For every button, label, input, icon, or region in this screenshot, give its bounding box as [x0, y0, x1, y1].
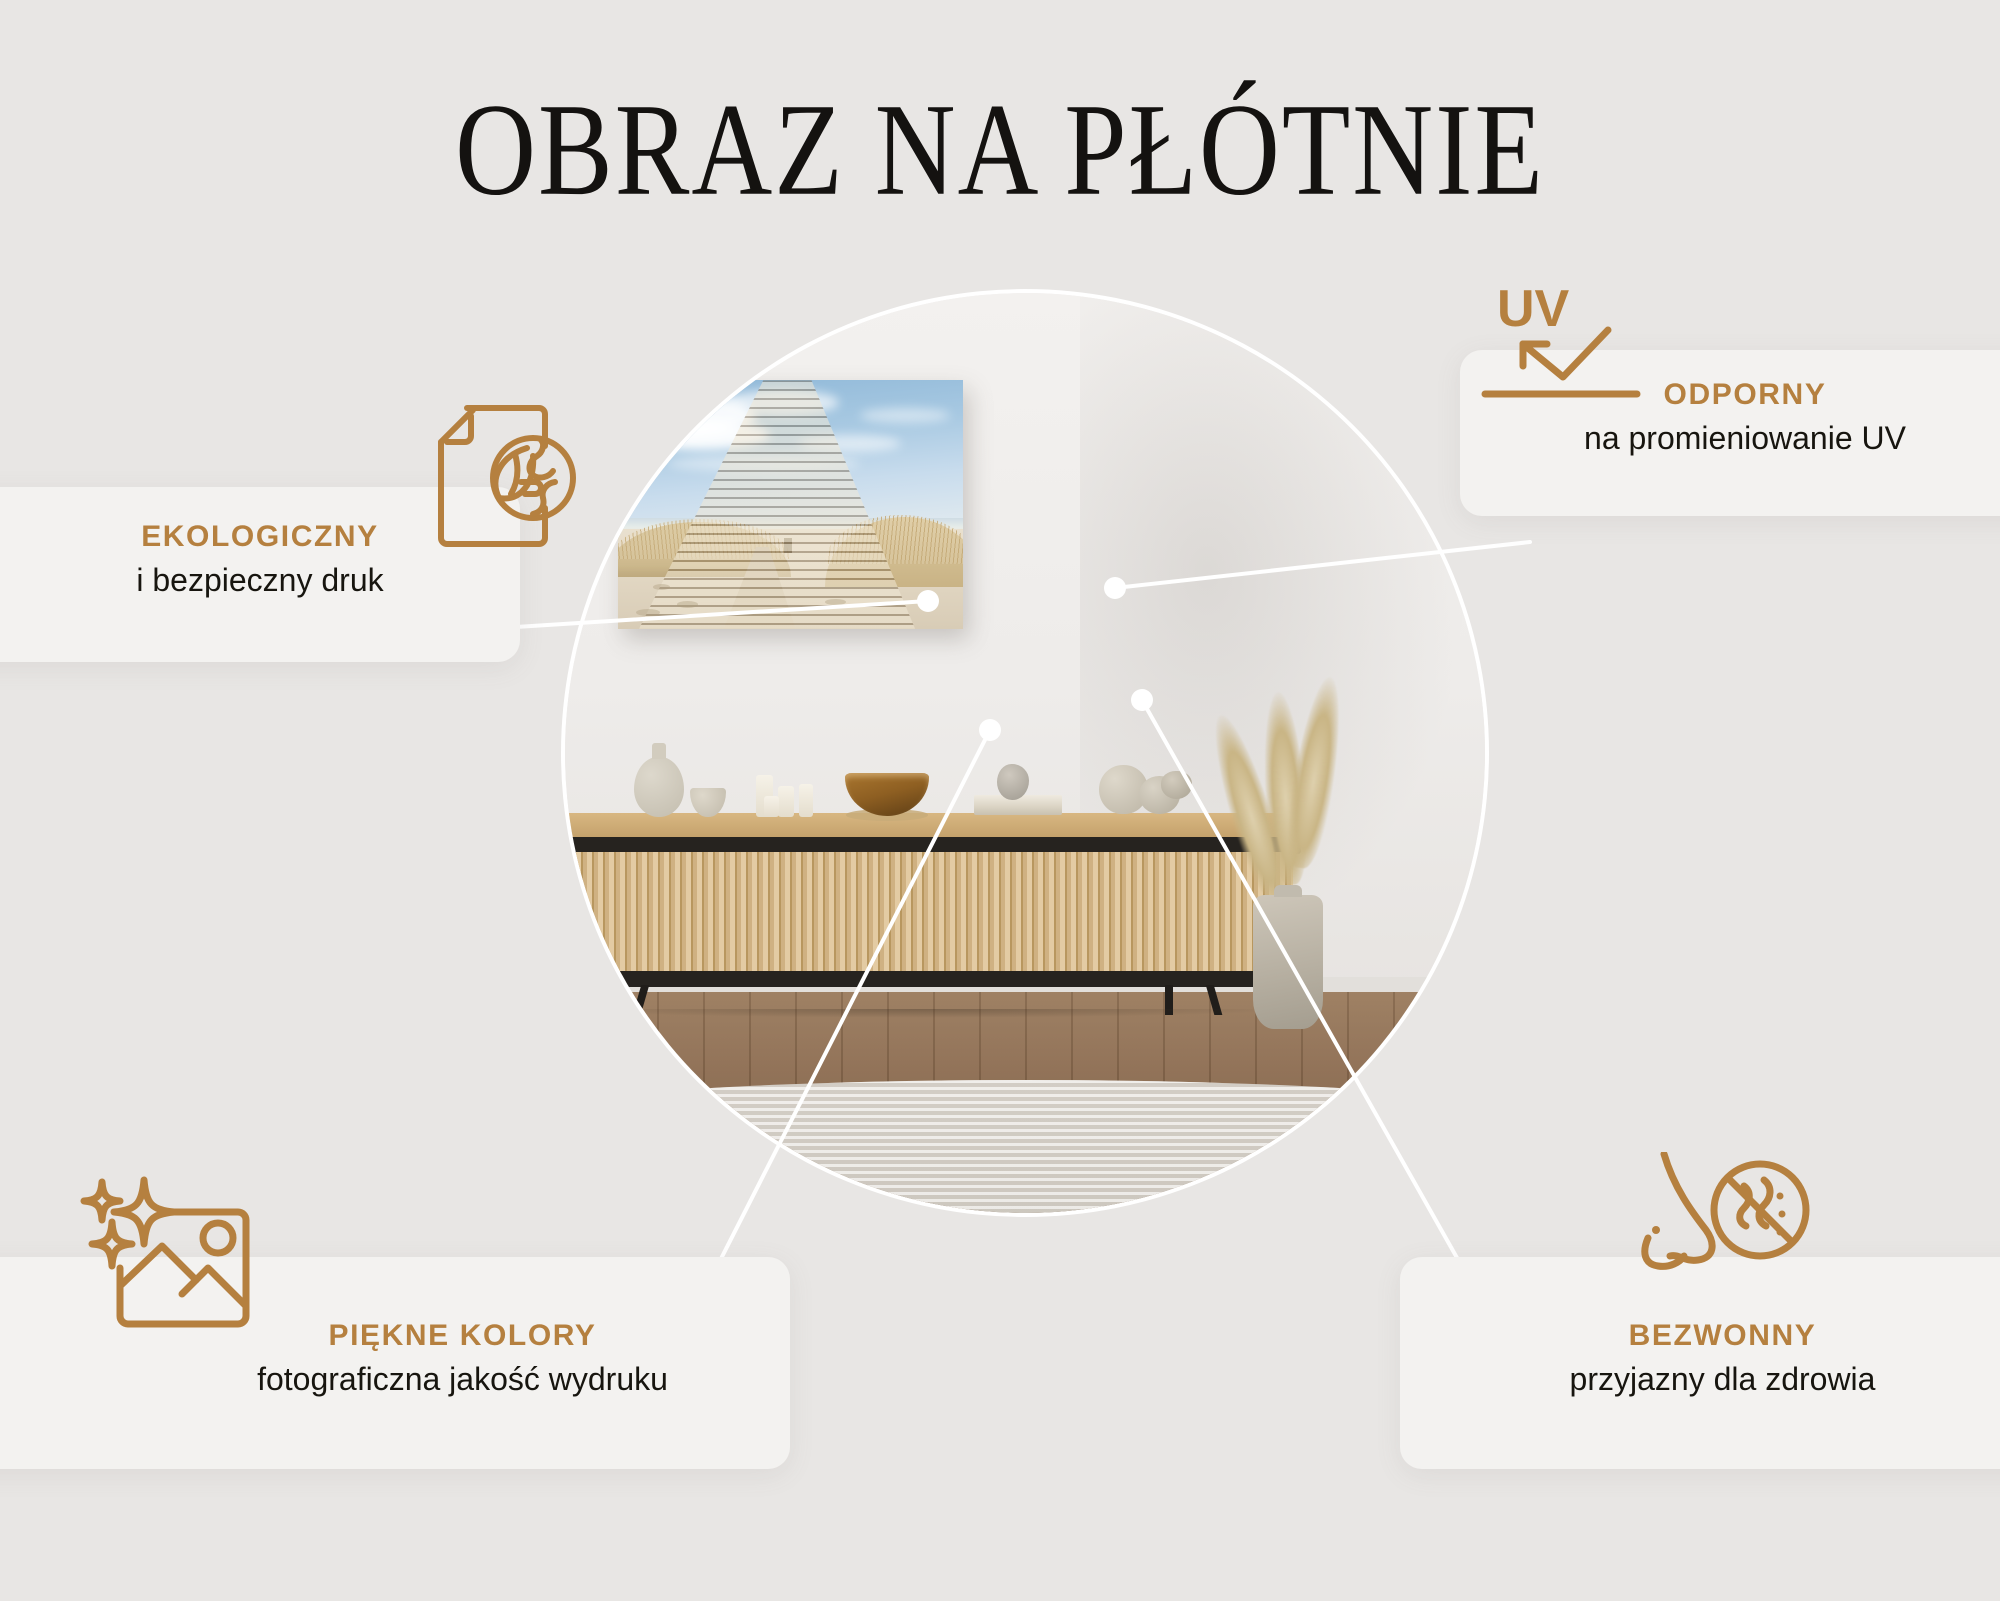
- ceramic-vase-round: [634, 757, 684, 818]
- room-scene-circle: [565, 293, 1485, 1213]
- sideboard-body: [565, 852, 1293, 975]
- artwork-cloud: [860, 408, 950, 423]
- pillar-candle: [764, 796, 780, 817]
- feature-sub-bezwonny: przyjazny dla zdrowia: [1440, 1361, 2000, 1399]
- sideboard-top: [565, 813, 1301, 839]
- page-title: OBRAZ NA PŁÓTNIE: [0, 84, 2000, 216]
- uv-resistance-icon: UV: [1475, 278, 1651, 418]
- area-rug: [565, 1080, 1485, 1213]
- pillar-candle: [799, 784, 814, 817]
- room-scene: [565, 293, 1485, 1213]
- sideboard-shadow: [565, 1009, 1286, 1019]
- rug-weave: [565, 1080, 1485, 1213]
- picture-sparkle-icon: [76, 1176, 262, 1354]
- feature-sub-odporny: na promieniowanie UV: [1460, 420, 2000, 458]
- feature-sub-piekne-kolory: fotograficzna jakość wydruku: [175, 1361, 750, 1399]
- uv-icon-label: UV: [1497, 280, 1570, 338]
- nose-no-odor-icon: [1640, 1152, 1830, 1312]
- document-globe-leaf-icon: [427, 400, 591, 552]
- sideboard-base: [565, 971, 1293, 987]
- sideboard: [565, 813, 1301, 1011]
- feature-kicker-bezwonny: BEZWONNY: [1440, 1319, 2000, 1352]
- infographic-stage: OBRAZ NA PŁÓTNIE: [0, 0, 2000, 1601]
- artwork-footprint: [677, 601, 698, 607]
- feature-sub-ekologiczny: i bezpieczny druk: [0, 562, 520, 600]
- artwork-footprint: [653, 584, 670, 590]
- tall-stone-vase: [1253, 895, 1323, 1029]
- pillar-candle: [778, 786, 795, 817]
- artwork-footprint: [636, 609, 660, 616]
- stone-object: [997, 764, 1028, 800]
- canvas-artwork: [618, 380, 963, 628]
- sideboard-fluting: [565, 852, 1293, 975]
